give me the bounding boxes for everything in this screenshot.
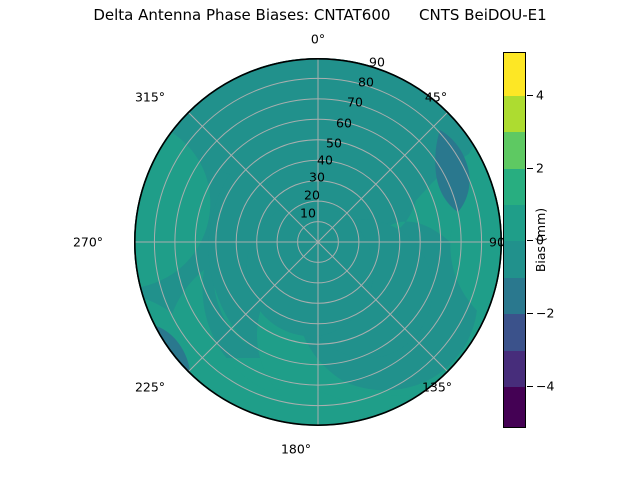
angular-tick-315: 315° — [135, 90, 165, 105]
colorbar-band-7 — [504, 314, 525, 351]
colorbar-band-6 — [504, 278, 525, 314]
figure-title: Delta Antenna Phase Biases: CNTAT600 CNT… — [0, 6, 640, 24]
colorbar-tick-minus2 — [527, 313, 533, 314]
radial-tick-80: 80 — [358, 75, 374, 90]
colorbar-band-8 — [504, 351, 525, 387]
angular-tick-135: 135° — [422, 380, 452, 395]
polar-axes[interactable] — [134, 58, 502, 426]
angular-tick-270: 270° — [73, 235, 103, 250]
angular-tick-180: 180° — [281, 442, 311, 457]
colorbar-band-9 — [504, 387, 525, 428]
colorbar-ticklabel-minus4: −4 — [536, 379, 554, 394]
colorbar-tick-2 — [527, 168, 533, 169]
colorbar-band-0 — [504, 53, 525, 96]
colorbar[interactable] — [503, 52, 526, 428]
colorbar-band-1 — [504, 96, 525, 132]
radial-tick-90: 90 — [369, 55, 385, 70]
radial-tick-60: 60 — [336, 116, 352, 131]
colorbar-tick-4 — [527, 95, 533, 96]
colorbar-band-5 — [504, 241, 525, 278]
colorbar-ticklabel-4: 4 — [536, 88, 544, 103]
polar-plot-svg — [134, 58, 502, 426]
colorbar-band-4 — [504, 205, 525, 241]
angular-tick-45: 45° — [425, 90, 447, 105]
radial-tick-20: 20 — [304, 188, 320, 203]
figure-canvas: Delta Antenna Phase Biases: CNTAT600 CNT… — [0, 0, 640, 480]
colorbar-ticklabel-2: 2 — [536, 161, 544, 176]
colorbar-axis-label: Bias (mm) — [533, 208, 548, 272]
radial-tick-70: 70 — [347, 95, 363, 110]
radial-tick-10: 10 — [300, 206, 316, 221]
polar-grid — [134, 58, 502, 426]
angular-tick-0: 0° — [311, 32, 325, 47]
radial-tick-30: 30 — [309, 170, 325, 185]
colorbar-ticklabel-minus2: −2 — [536, 306, 554, 321]
radial-tick-40: 40 — [317, 153, 333, 168]
colorbar-band-3 — [504, 169, 525, 205]
colorbar-tick-minus4 — [527, 386, 533, 387]
angular-tick-225: 225° — [135, 380, 165, 395]
radial-tick-50: 50 — [326, 136, 342, 151]
colorbar-band-2 — [504, 132, 525, 169]
